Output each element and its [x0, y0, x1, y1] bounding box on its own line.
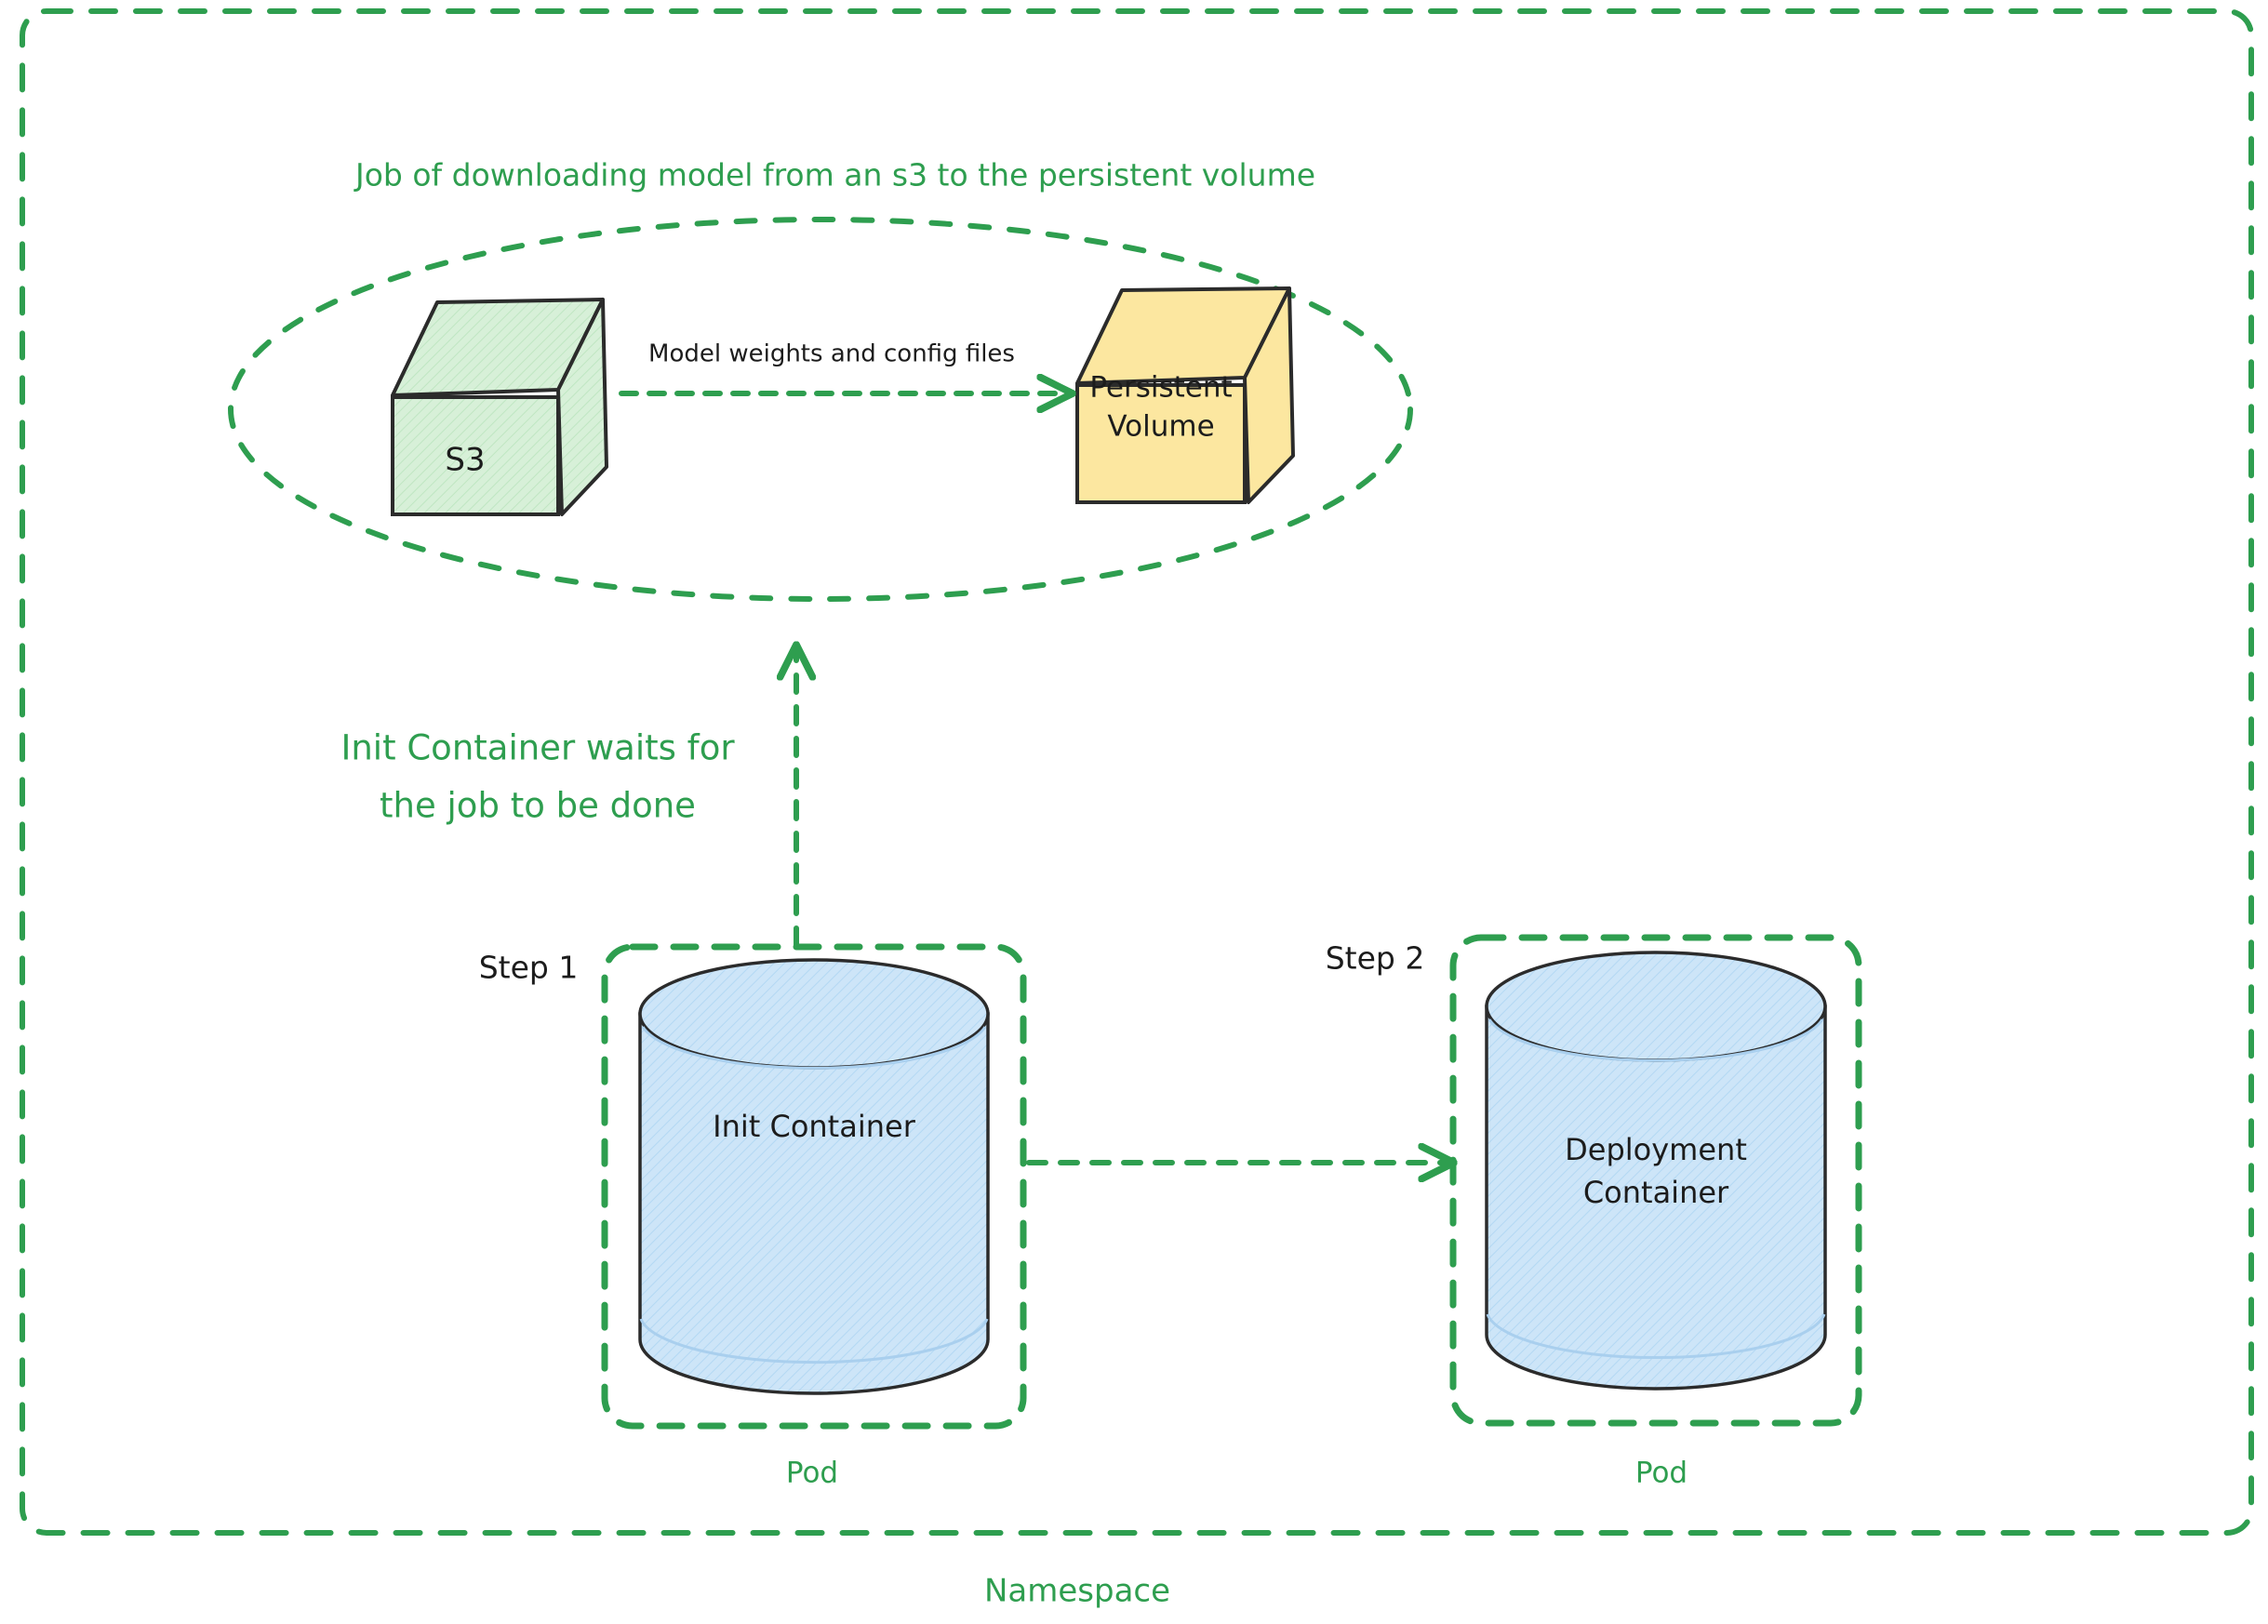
- pod-2-container-label-line1: Deployment: [1565, 1132, 1747, 1167]
- job-title-label: Job of downloading model from an s3 to t…: [354, 157, 1315, 193]
- pod-1-cylinder-top: [640, 960, 988, 1068]
- architecture-diagram: Job of downloading model from an s3 to t…: [0, 0, 2268, 1624]
- wait-note-line2: the job to be done: [380, 786, 696, 826]
- pod-1-container-label: Init Container: [713, 1109, 916, 1144]
- pod-1-label: Pod: [786, 1457, 838, 1490]
- pod-1-step-label: Step 1: [479, 950, 579, 986]
- pv-cube-label-line1: Persistent: [1089, 371, 1232, 405]
- s3-cube-label: S3: [445, 442, 485, 479]
- namespace-boundary: [22, 11, 2251, 1533]
- transfer-arrow-label: Model weights and config files: [648, 340, 1015, 368]
- wait-note-line1: Init Container waits for: [340, 728, 735, 768]
- persistent-volume-cube: Persistent Volume: [1077, 288, 1293, 502]
- namespace-label: Namespace: [984, 1573, 1170, 1610]
- s3-cube: S3: [393, 300, 607, 514]
- pod-2-label: Pod: [1635, 1457, 1688, 1490]
- diagram-canvas: Job of downloading model from an s3 to t…: [0, 0, 2268, 1624]
- pv-cube-label-line2: Volume: [1107, 410, 1214, 444]
- pod-1[interactable]: Init Container Step 1 Pod: [479, 947, 1023, 1490]
- pod-2-cylinder-top: [1487, 952, 1825, 1060]
- pod-2-step-label: Step 2: [1326, 940, 1425, 977]
- pod-2-container-label-line2: Container: [1583, 1175, 1729, 1210]
- pod-1-cylinder-body: [640, 1014, 988, 1393]
- pod-2[interactable]: Deployment Container Step 2 Pod: [1326, 938, 1859, 1490]
